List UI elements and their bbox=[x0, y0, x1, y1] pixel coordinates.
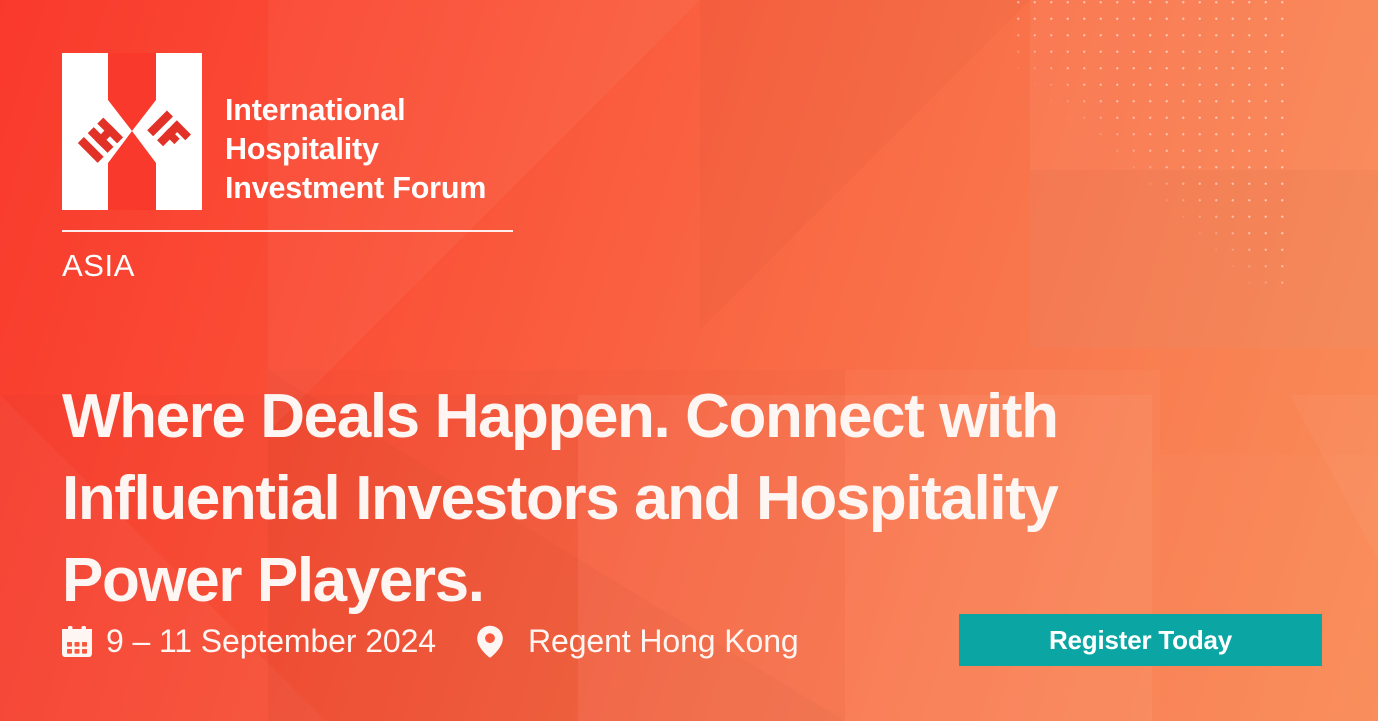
location-pin-icon bbox=[476, 625, 514, 658]
wordmark-line-2: Hospitality bbox=[225, 130, 486, 169]
headline-line-1: Where Deals Happen. Connect with bbox=[62, 376, 1292, 458]
region-label: ASIA bbox=[62, 248, 135, 284]
headline-line-3: Power Players. bbox=[62, 540, 1292, 622]
event-promo-banner: International Hospitality Investment For… bbox=[0, 0, 1378, 721]
headline-line-2: Influential Investors and Hospitality bbox=[62, 458, 1292, 540]
wordmark-line-1: International bbox=[225, 91, 486, 130]
event-date: 9 – 11 September 2024 bbox=[62, 623, 436, 660]
event-date-text: 9 – 11 September 2024 bbox=[106, 623, 436, 660]
brand-lockup: International Hospitality Investment For… bbox=[62, 53, 486, 210]
brand-divider bbox=[62, 230, 513, 232]
register-today-button[interactable]: Register Today bbox=[959, 614, 1322, 666]
page-title: Where Deals Happen. Connect with Influen… bbox=[62, 376, 1292, 623]
event-venue-text: Regent Hong Kong bbox=[528, 623, 799, 660]
brand-wordmark: International Hospitality Investment For… bbox=[225, 91, 486, 209]
wordmark-line-3: Investment Forum bbox=[225, 169, 486, 208]
event-venue: Regent Hong Kong bbox=[476, 623, 799, 660]
ihif-h-monogram-logo bbox=[62, 53, 202, 210]
event-meta-row: 9 – 11 September 2024 Regent Hong Kong bbox=[62, 612, 799, 670]
calendar-icon bbox=[62, 626, 92, 657]
